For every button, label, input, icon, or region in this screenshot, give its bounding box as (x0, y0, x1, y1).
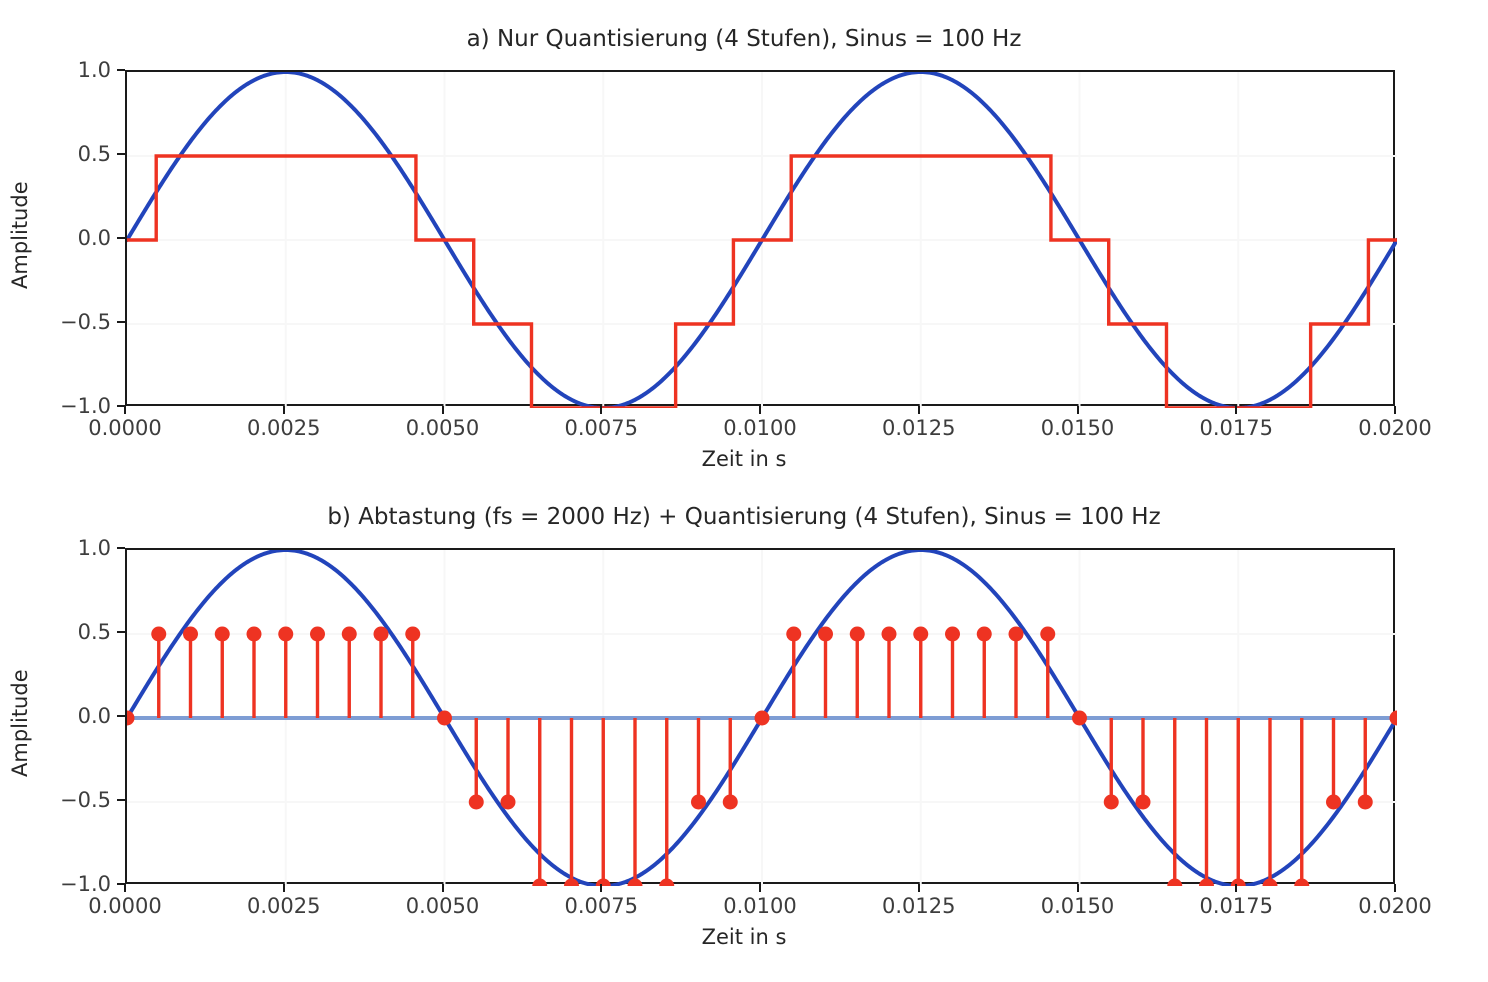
xtick-label: 0.0175 (1200, 894, 1273, 918)
xtick-mark (1077, 884, 1079, 892)
ytick-label: 1.0 (0, 536, 111, 560)
ytick-label: 0.5 (0, 142, 111, 166)
ytick-mark (117, 237, 125, 239)
figure-canvas: a) Nur Quantisierung (4 Stufen), Sinus =… (0, 0, 1488, 982)
xtick-label: 0.0050 (406, 416, 479, 440)
ytick-label: 0.5 (0, 620, 111, 644)
panel-a-plot (127, 72, 1397, 408)
xtick-label: 0.0150 (1041, 416, 1114, 440)
ytick-label: −1.0 (0, 872, 111, 896)
xtick-mark (283, 406, 285, 414)
xtick-label: 0.0175 (1200, 416, 1273, 440)
xtick-mark (918, 884, 920, 892)
xtick-mark (1077, 406, 1079, 414)
xtick-label: 0.0050 (406, 894, 479, 918)
ytick-mark (117, 799, 125, 801)
xtick-mark (1235, 884, 1237, 892)
ytick-label: 1.0 (0, 58, 111, 82)
ytick-mark (117, 69, 125, 71)
xtick-mark (1235, 406, 1237, 414)
xtick-mark (600, 884, 602, 892)
panel-b-title: b) Abtastung (fs = 2000 Hz) + Quantisier… (0, 504, 1488, 530)
ytick-mark (117, 715, 125, 717)
xtick-mark (759, 406, 761, 414)
panel-b: b) Abtastung (fs = 2000 Hz) + Quantisier… (0, 478, 1488, 982)
xtick-mark (1394, 884, 1396, 892)
panel-b-xlabel: Zeit in s (0, 925, 1488, 949)
ytick-mark (117, 153, 125, 155)
ytick-label: 0.0 (0, 704, 111, 728)
xtick-label: 0.0025 (247, 894, 320, 918)
xtick-label: 0.0100 (723, 894, 796, 918)
xtick-label: 0.0100 (723, 416, 796, 440)
xtick-mark (442, 884, 444, 892)
panel-a-title: a) Nur Quantisierung (4 Stufen), Sinus =… (0, 26, 1488, 52)
xtick-label: 0.0200 (1358, 894, 1431, 918)
xtick-mark (283, 884, 285, 892)
xtick-mark (124, 406, 126, 414)
xtick-mark (1394, 406, 1396, 414)
ytick-label: −0.5 (0, 788, 111, 812)
xtick-label: 0.0150 (1041, 894, 1114, 918)
xtick-label: 0.0125 (882, 894, 955, 918)
panel-a-xlabel: Zeit in s (0, 447, 1488, 471)
xtick-mark (124, 884, 126, 892)
xtick-label: 0.0025 (247, 416, 320, 440)
panel-a-axes (125, 70, 1395, 406)
xtick-mark (759, 884, 761, 892)
ytick-label: −0.5 (0, 310, 111, 334)
xtick-label: 0.0075 (565, 416, 638, 440)
xtick-label: 0.0075 (565, 894, 638, 918)
ytick-mark (117, 631, 125, 633)
panel-a: a) Nur Quantisierung (4 Stufen), Sinus =… (0, 0, 1488, 490)
xtick-mark (442, 406, 444, 414)
panel-b-axes (125, 548, 1395, 884)
panel-b-plot (127, 550, 1397, 886)
ytick-mark (117, 547, 125, 549)
xtick-mark (600, 406, 602, 414)
xtick-label: 0.0000 (88, 416, 161, 440)
xtick-label: 0.0000 (88, 894, 161, 918)
ytick-label: −1.0 (0, 394, 111, 418)
ytick-label: 0.0 (0, 226, 111, 250)
xtick-label: 0.0125 (882, 416, 955, 440)
ytick-mark (117, 321, 125, 323)
xtick-label: 0.0200 (1358, 416, 1431, 440)
xtick-mark (918, 406, 920, 414)
